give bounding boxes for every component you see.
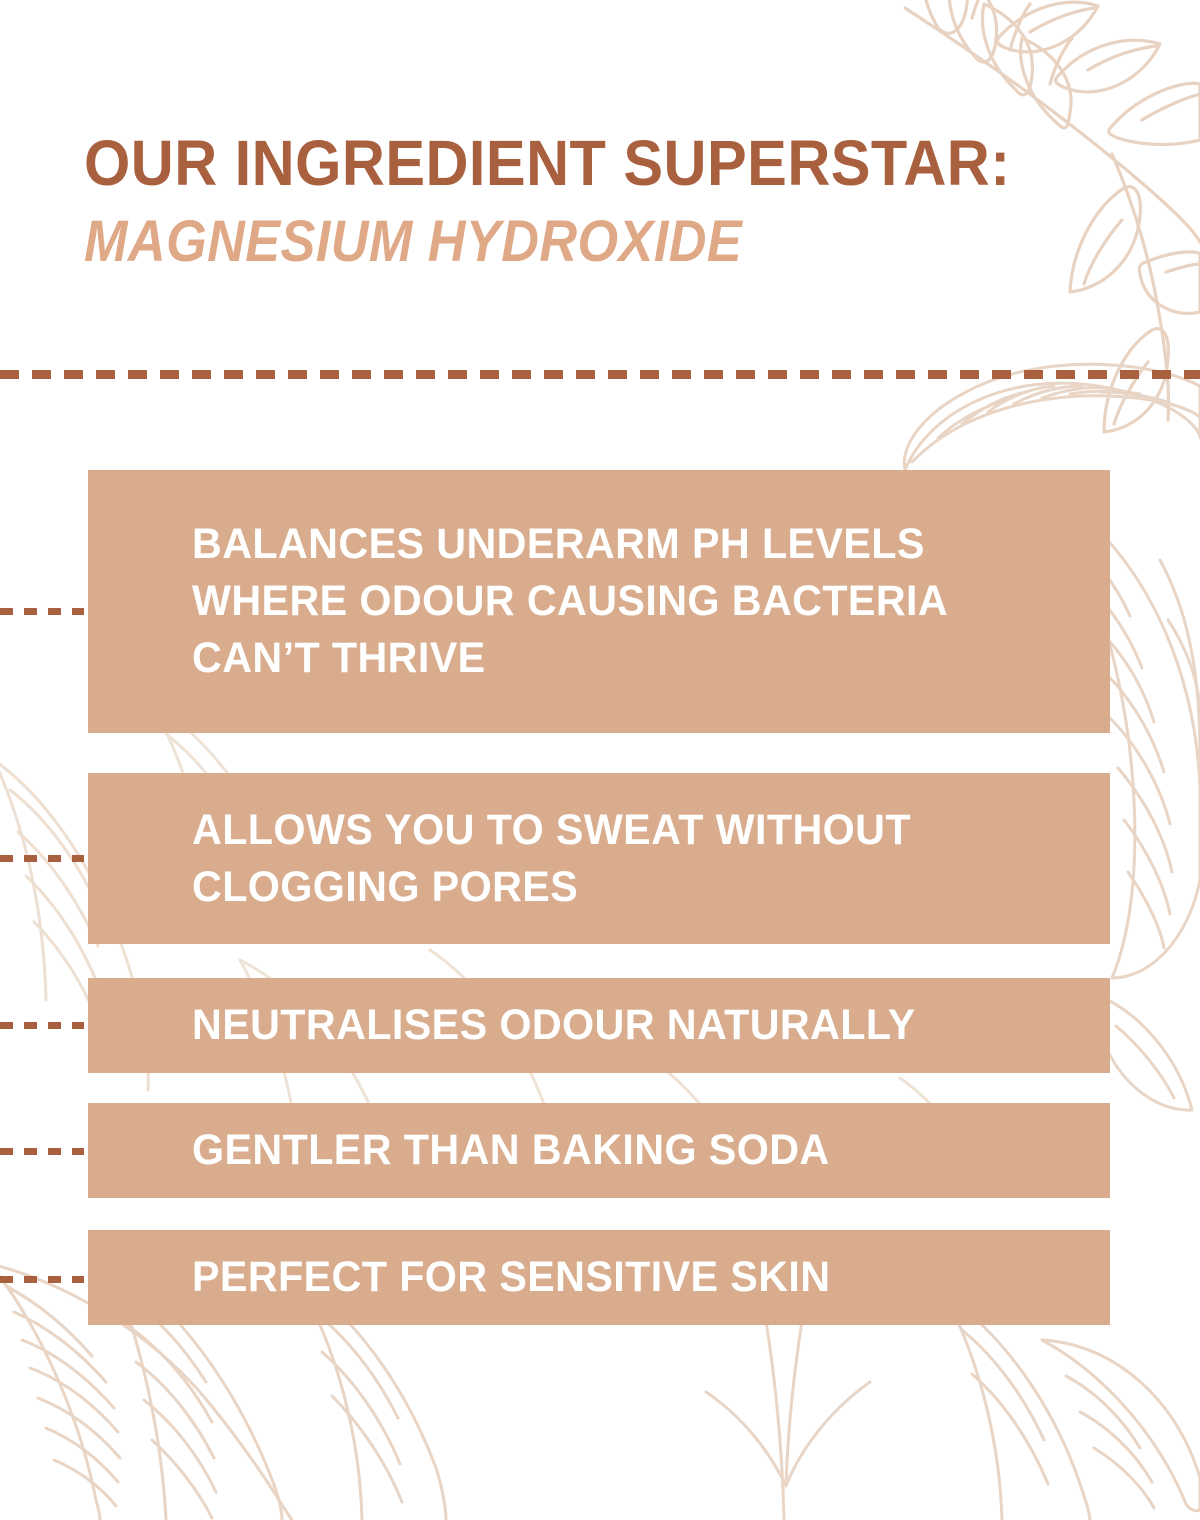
benefit-text-5: PERFECT FOR SENSITIVE SKIN [192,1249,830,1306]
connector-dash-5 [0,1276,84,1283]
header: OUR INGREDIENT SUPERSTAR: MAGNESIUM HYDR… [84,132,1080,271]
connector-dash-4 [0,1148,84,1155]
connector-dash-1 [0,608,84,615]
poster-canvas: OUR INGREDIENT SUPERSTAR: MAGNESIUM HYDR… [0,0,1200,1520]
benefit-bar-3: NEUTRALISES ODOUR NATURALLY [88,978,1110,1073]
benefit-bar-5: PERFECT FOR SENSITIVE SKIN [88,1230,1110,1325]
benefit-text-2: ALLOWS YOU TO SWEAT WITHOUT CLOGGING POR… [192,802,911,916]
page-subtitle: MAGNESIUM HYDROXIDE [84,195,981,271]
benefit-text-3: NEUTRALISES ODOUR NATURALLY [192,997,916,1054]
benefit-text-4: GENTLER THAN BAKING SODA [192,1122,830,1179]
dashed-divider [0,370,1200,379]
connector-dash-2 [0,855,84,862]
benefit-bar-4: GENTLER THAN BAKING SODA [88,1103,1110,1198]
benefit-bar-1: BALANCES UNDERARM PH LEVELS WHERE ODOUR … [88,470,1110,733]
benefit-text-1: BALANCES UNDERARM PH LEVELS WHERE ODOUR … [192,516,948,686]
connector-dash-3 [0,1022,84,1029]
benefit-bar-2: ALLOWS YOU TO SWEAT WITHOUT CLOGGING POR… [88,773,1110,944]
page-title: OUR INGREDIENT SUPERSTAR: [84,132,1011,195]
